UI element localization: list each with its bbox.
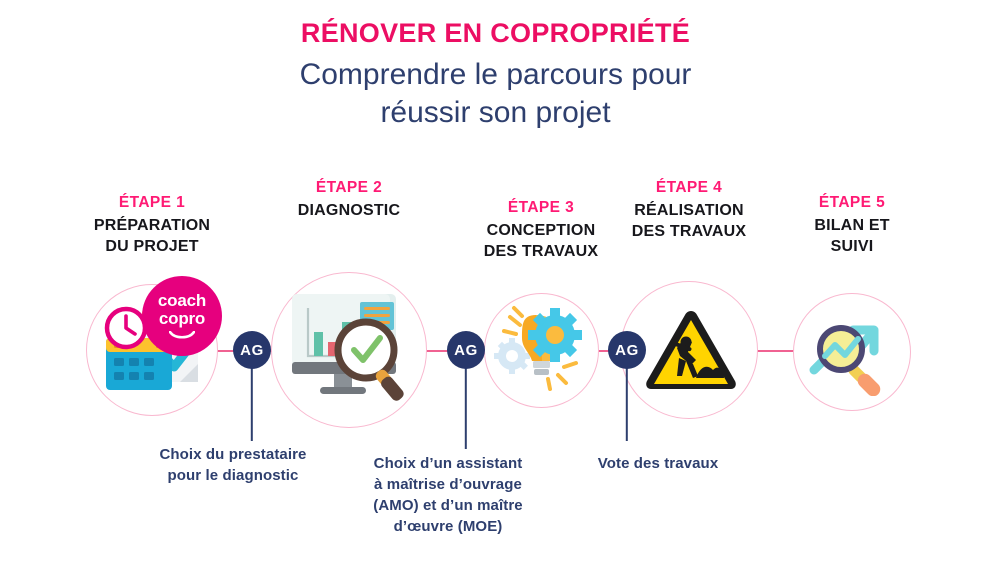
ag-stem-3 [626, 367, 628, 441]
roadwork-warning-icon [644, 308, 738, 392]
ag-note-3-line1: Vote des travaux [530, 453, 786, 474]
step-label-1: ÉTAPE 1 PRÉPARATION DU PROJET [52, 193, 252, 257]
ag-note-1: Choix du prestataire pour le diagnostic [100, 444, 366, 486]
step-title-1-line1: PRÉPARATION [52, 215, 252, 236]
ag-note-1-line1: Choix du prestataire [100, 444, 366, 465]
coachcopro-logo-badge: coach copro [142, 276, 222, 356]
monitor-chart-magnifier-icon [286, 288, 414, 406]
step-label-5: ÉTAPE 5 BILAN ET SUIVI [752, 193, 952, 257]
step-title-1: PRÉPARATION DU PROJET [52, 215, 252, 257]
ag-badge-1[interactable]: AG [233, 331, 271, 369]
magnifier-trend-icon [808, 308, 900, 396]
ag-marker-2[interactable]: AG [447, 331, 485, 449]
coachcopro-line2: copro [159, 310, 205, 328]
ag-badge-2[interactable]: AG [447, 331, 485, 369]
ag-marker-1[interactable]: AG [233, 331, 271, 441]
process-timeline: ÉTAPE 1 PRÉPARATION DU PROJET [0, 0, 991, 584]
ag-note-1-line2: pour le diagnostic [100, 465, 366, 486]
step-title-1-line2: DU PROJET [52, 236, 252, 257]
ag-stem-1 [251, 367, 253, 441]
step-title-5-line2: SUIVI [752, 236, 952, 257]
coachcopro-line1: coach [158, 292, 206, 310]
step-label-2: ÉTAPE 2 DIAGNOSTIC [249, 178, 449, 221]
step-title-5: BILAN ET SUIVI [752, 215, 952, 257]
ag-marker-3[interactable]: AG [608, 331, 646, 441]
smile-icon [169, 331, 195, 340]
ag-stem-2 [465, 367, 467, 449]
step-number-5: ÉTAPE 5 [752, 193, 952, 213]
step-title-3-line2: DES TRAVAUX [441, 241, 641, 262]
lightbulb-gears-icon [492, 303, 588, 391]
step-number-2: ÉTAPE 2 [249, 178, 449, 198]
step-title-5-line1: BILAN ET [752, 215, 952, 236]
step-number-1: ÉTAPE 1 [52, 193, 252, 213]
step-title-2: DIAGNOSTIC [249, 200, 449, 221]
ag-note-2-line4: d’œuvre (MOE) [330, 516, 566, 537]
ag-badge-3[interactable]: AG [608, 331, 646, 369]
step-title-2-line1: DIAGNOSTIC [249, 200, 449, 221]
ag-note-2-line3: (AMO) et d’un maître [330, 495, 566, 516]
ag-note-2-line2: à maîtrise d’ouvrage [330, 474, 566, 495]
ag-note-3: Vote des travaux [530, 453, 786, 474]
